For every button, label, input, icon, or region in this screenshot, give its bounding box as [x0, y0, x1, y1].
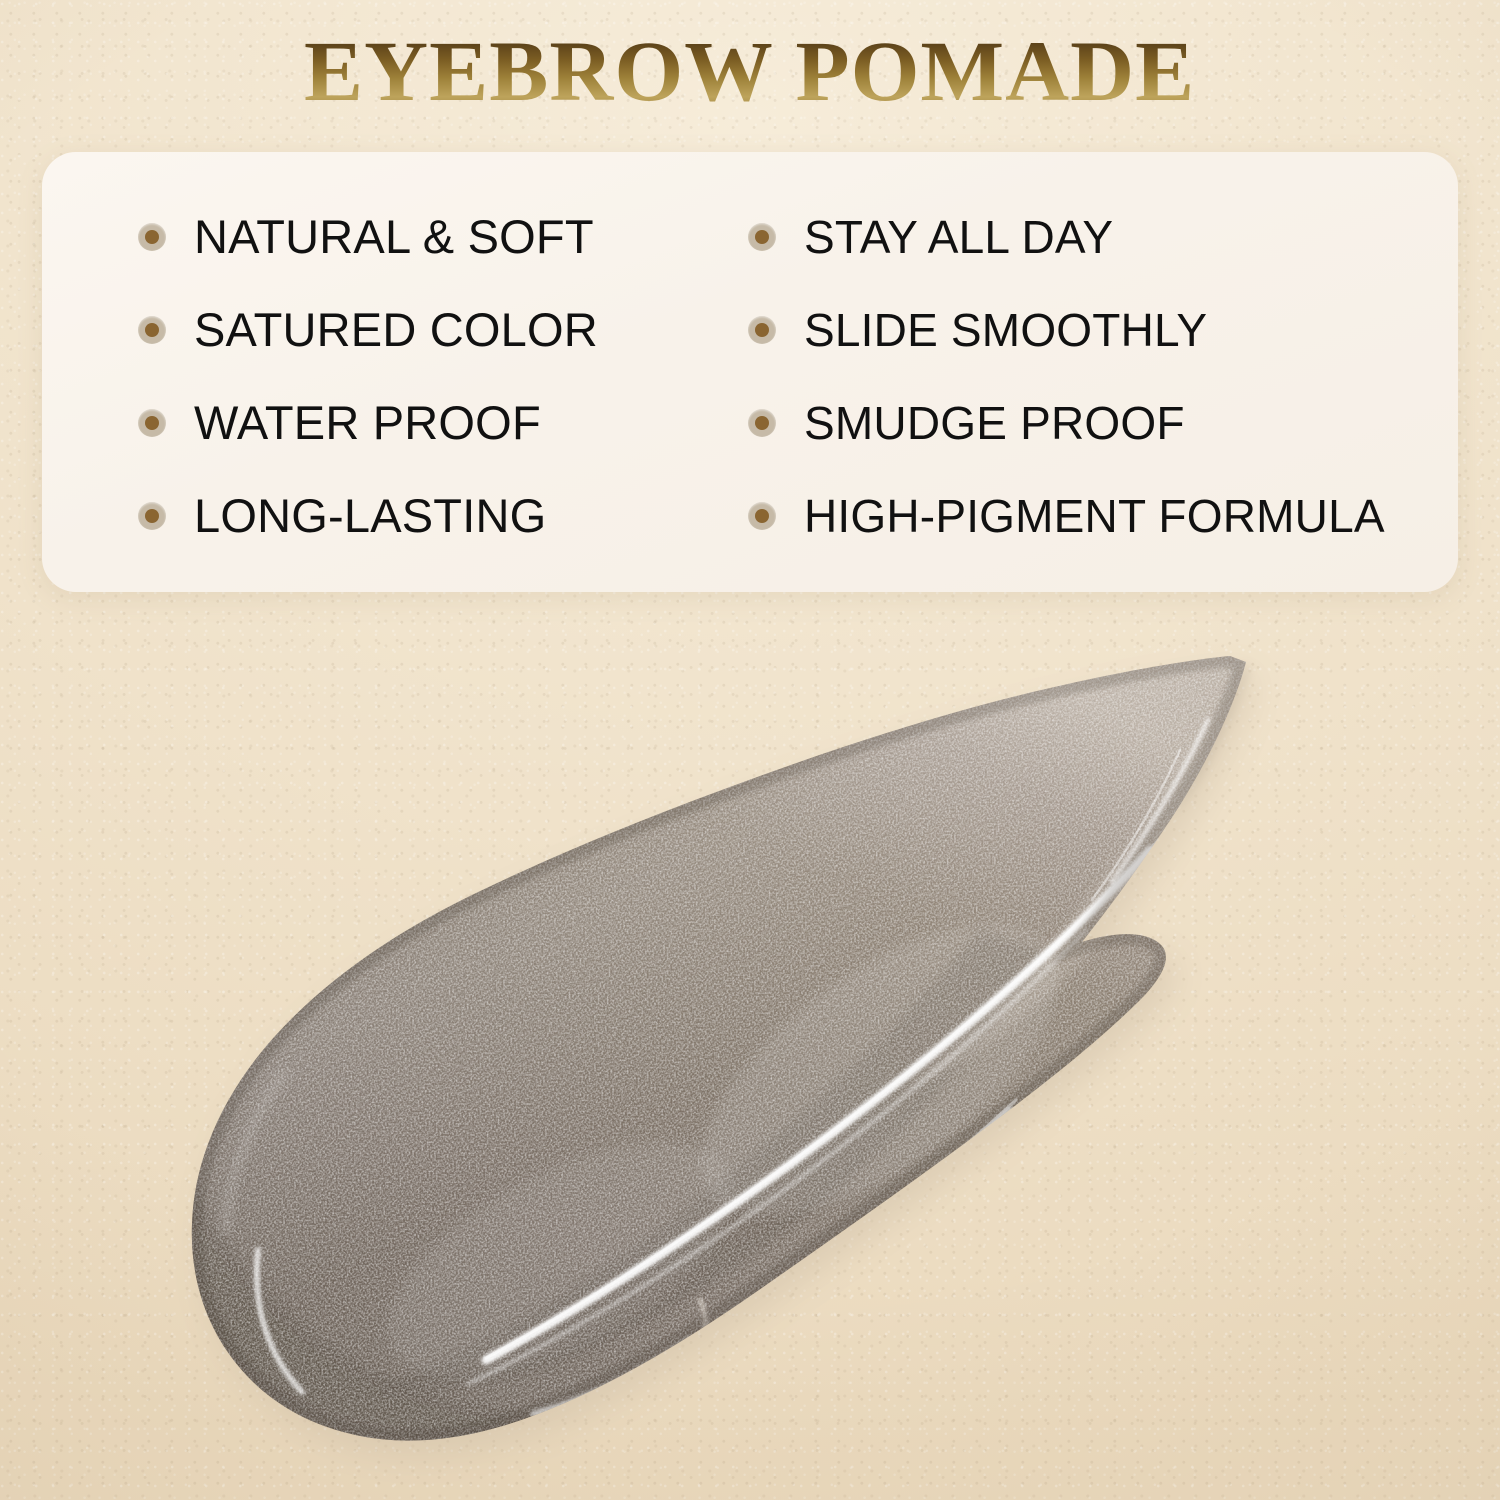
feature-list-card: NATURAL & SOFT STAY ALL DAY SATURED COLO…	[42, 152, 1458, 592]
bullet-dot-icon	[138, 316, 166, 344]
feature-item-slide-smoothly: SLIDE SMOOTHLY	[722, 283, 1458, 376]
bullet-dot-icon	[138, 502, 166, 530]
bullet-dot-icon	[748, 316, 776, 344]
bullet-dot-icon	[748, 223, 776, 251]
product-swatch-area	[0, 600, 1500, 1500]
bullet-dot-icon	[138, 409, 166, 437]
feature-label: HIGH-PIGMENT FORMULA	[804, 493, 1385, 539]
feature-label: SATURED COLOR	[194, 306, 598, 353]
feature-label: NATURAL & SOFT	[194, 213, 594, 260]
bullet-dot-icon	[138, 223, 166, 251]
header: EYEBROW POMADE	[0, 28, 1500, 116]
feature-item-high-pigment-formula: HIGH-PIGMENT FORMULA	[722, 469, 1458, 562]
pomade-smear-swatch	[0, 600, 1500, 1500]
feature-label: WATER PROOF	[194, 399, 541, 446]
bullet-dot-icon	[748, 409, 776, 437]
feature-label: LONG-LASTING	[194, 492, 546, 539]
feature-item-smudge-proof: SMUDGE PROOF	[722, 376, 1458, 469]
feature-item-natural-soft: NATURAL & SOFT	[42, 190, 722, 283]
feature-item-satured-color: SATURED COLOR	[42, 283, 722, 376]
feature-item-stay-all-day: STAY ALL DAY	[722, 190, 1458, 283]
page-title: EYEBROW POMADE	[304, 28, 1195, 116]
product-poster: EYEBROW POMADE NATURAL & SOFT STAY ALL D…	[0, 0, 1500, 1500]
feature-label: SLIDE SMOOTHLY	[804, 307, 1207, 353]
feature-label: STAY ALL DAY	[804, 214, 1113, 260]
feature-item-long-lasting: LONG-LASTING	[42, 469, 722, 562]
swatch-surface	[0, 600, 1500, 1500]
feature-item-water-proof: WATER PROOF	[42, 376, 722, 469]
bullet-dot-icon	[748, 502, 776, 530]
feature-label: SMUDGE PROOF	[804, 400, 1185, 446]
feature-grid: NATURAL & SOFT STAY ALL DAY SATURED COLO…	[42, 152, 1458, 592]
